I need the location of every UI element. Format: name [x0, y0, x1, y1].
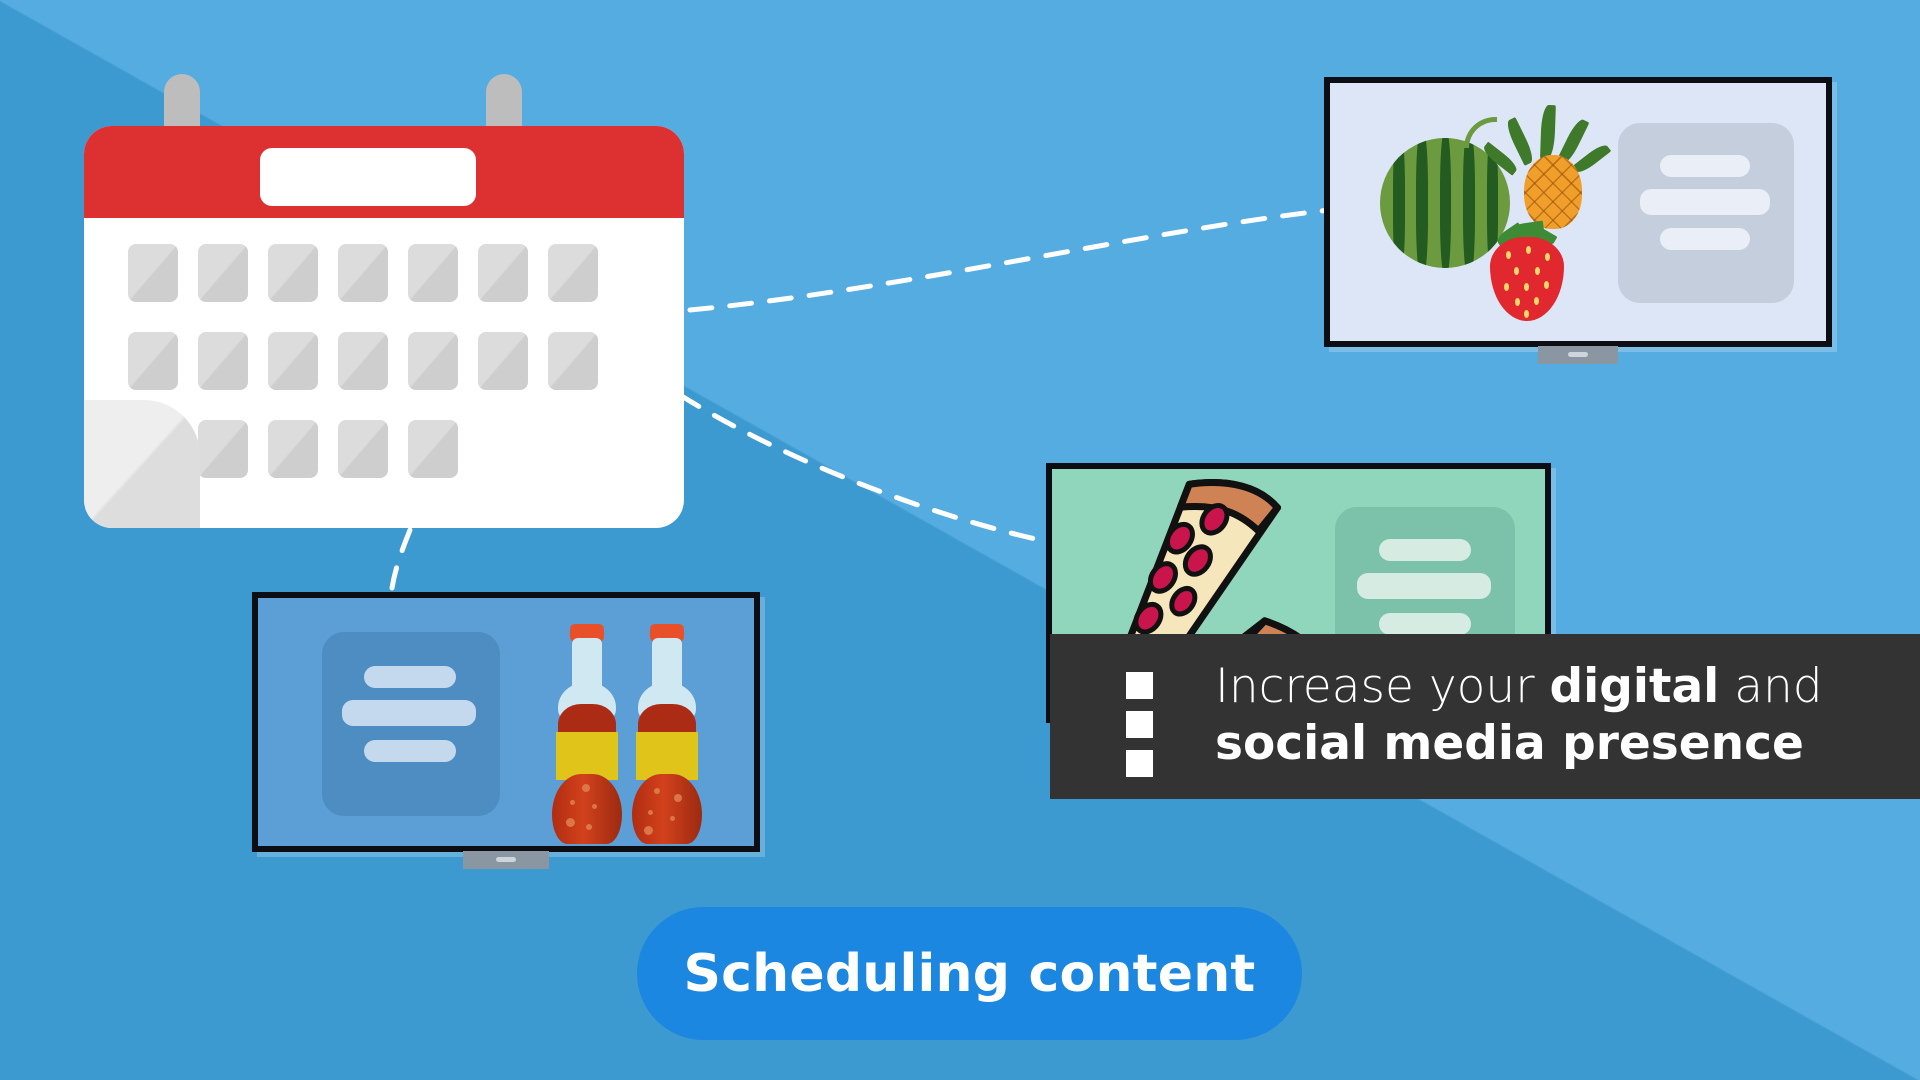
watermelon-stem — [1464, 117, 1497, 148]
calendar-day-cell — [268, 420, 318, 478]
text-bar — [1660, 155, 1750, 177]
calendar-day-cell — [548, 332, 598, 390]
text-bar — [1357, 573, 1491, 599]
tv-frame — [252, 592, 760, 852]
tv-screen — [1330, 83, 1826, 341]
calendar-day-cell — [338, 332, 388, 390]
calendar-page-curl — [84, 400, 200, 528]
calendar-day-cell — [198, 332, 248, 390]
text-bar — [364, 666, 456, 688]
tv-frame — [1324, 77, 1832, 347]
calendar-header-tab — [260, 148, 476, 206]
tv-stand — [1538, 346, 1618, 364]
caption-bullet-group — [1126, 672, 1153, 789]
strawberry-icon — [1480, 223, 1574, 327]
calendar-day-cell — [408, 244, 458, 302]
calendar-icon — [84, 78, 684, 528]
calendar-day-cell — [128, 332, 178, 390]
cola-bottle-icon — [550, 624, 624, 844]
text-bar — [364, 740, 456, 762]
text-placeholder-card — [1618, 123, 1794, 303]
poster-canvas: Increase your digital and social media p… — [0, 0, 1920, 1080]
caption-line1-suffix: and — [1719, 659, 1822, 714]
calendar-day-cell — [128, 244, 178, 302]
calendar-day-grid — [128, 244, 648, 508]
tv-screen — [258, 598, 754, 846]
caption-line1-bold: digital — [1549, 659, 1719, 714]
cola-bottle-icon — [630, 624, 704, 844]
calendar-day-cell — [198, 244, 248, 302]
scheduling-content-pill[interactable]: Scheduling content — [637, 907, 1302, 1040]
bullet-square-icon — [1126, 711, 1153, 738]
calendar-day-cell — [338, 420, 388, 478]
text-placeholder-card — [322, 632, 500, 816]
calendar-day-cell — [338, 244, 388, 302]
pineapple-icon — [1506, 109, 1602, 229]
text-bar — [342, 700, 476, 726]
text-bar — [1379, 613, 1471, 635]
calendar-day-cell — [408, 420, 458, 478]
calendar-day-cell — [478, 244, 528, 302]
caption-bar: Increase your digital and social media p… — [1050, 634, 1920, 799]
text-bar — [1640, 189, 1770, 215]
calendar-week-row — [128, 332, 648, 390]
calendar-day-cell — [408, 332, 458, 390]
pill-label: Scheduling content — [684, 944, 1256, 1004]
calendar-body — [84, 126, 684, 528]
caption-line1-prefix: Increase your — [1215, 659, 1549, 714]
calendar-week-row — [128, 420, 648, 478]
bullet-square-icon — [1126, 750, 1153, 777]
text-bar — [1379, 539, 1471, 561]
text-bar — [1660, 228, 1750, 250]
calendar-header — [84, 126, 684, 218]
calendar-day-cell — [548, 244, 598, 302]
bullet-square-icon — [1126, 672, 1153, 699]
calendar-day-cell — [268, 244, 318, 302]
calendar-day-cell — [198, 420, 248, 478]
caption-line-1: Increase your digital and — [1215, 658, 1905, 715]
calendar-day-cell — [268, 332, 318, 390]
tv-stand — [463, 851, 549, 869]
caption-text: Increase your digital and social media p… — [1215, 658, 1905, 773]
calendar-day-cell — [478, 332, 528, 390]
fruit-display-screen[interactable] — [1324, 77, 1832, 347]
calendar-week-row — [128, 244, 648, 302]
caption-line-2: social media presence — [1215, 715, 1905, 772]
cola-display-screen[interactable] — [252, 592, 760, 852]
